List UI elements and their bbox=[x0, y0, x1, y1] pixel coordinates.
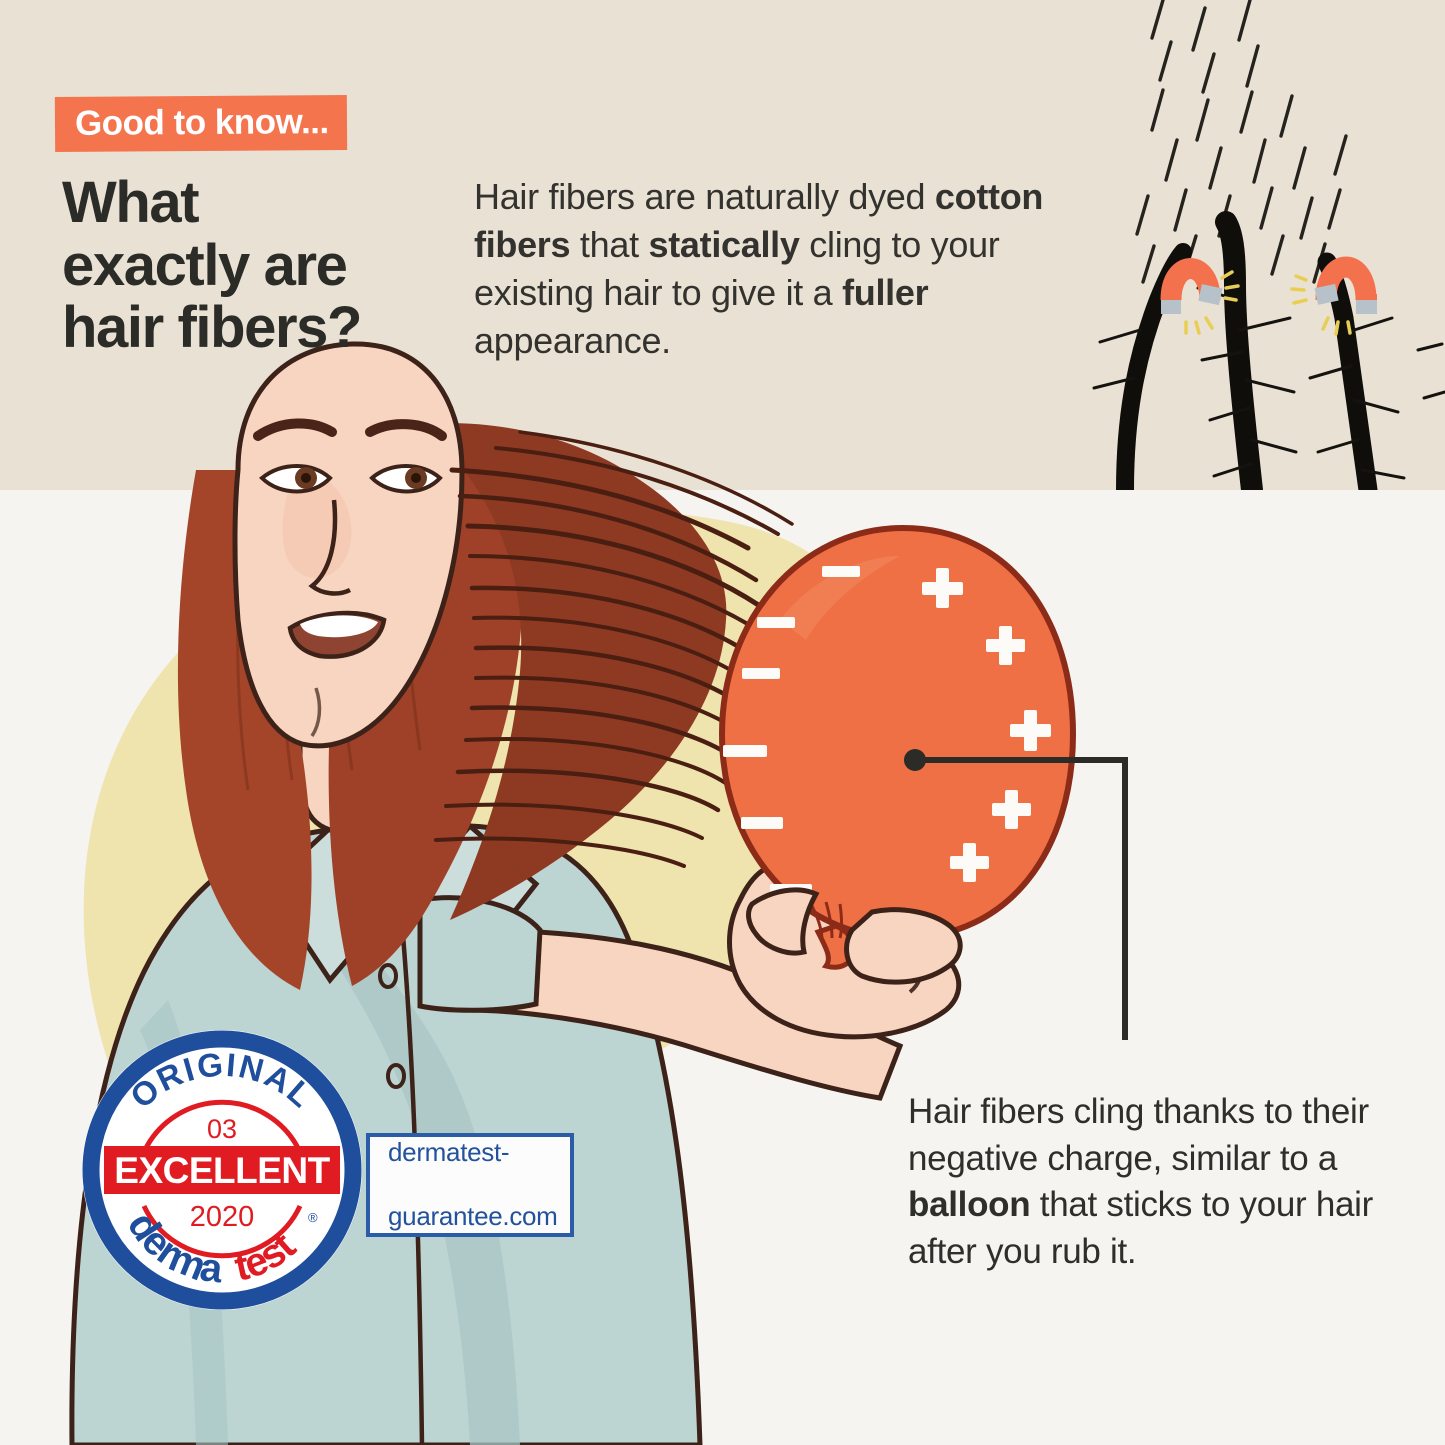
hair-strand-group bbox=[1094, 0, 1445, 490]
headline-line-3: hair fibers? bbox=[62, 297, 482, 360]
seal-grade: EXCELLENT bbox=[114, 1150, 330, 1191]
seal-year: 2020 bbox=[190, 1201, 255, 1233]
dermatest-seal: ORIGINAL derma test ® 03 EXCELLENT 2020 bbox=[78, 1026, 366, 1314]
url-line-2: guarantee.com bbox=[388, 1201, 558, 1233]
dermatest-url-box[interactable]: dermatest- guarantee.com bbox=[366, 1133, 574, 1237]
eyebrow-badge: Good to know... bbox=[55, 95, 347, 152]
seal-registered-icon: ® bbox=[308, 1210, 318, 1225]
page-title: What exactly are hair fibers? bbox=[62, 172, 482, 360]
headline-line-1: What bbox=[62, 172, 482, 235]
infographic-canvas: Good to know... What exactly are hair fi… bbox=[0, 0, 1445, 1445]
headline-line-2: exactly are bbox=[62, 235, 482, 298]
url-line-1: dermatest- bbox=[388, 1137, 558, 1169]
balloon-callout-text: Hair fibers cling thanks to their negati… bbox=[908, 1089, 1378, 1275]
horseshoe-magnet-right bbox=[1292, 267, 1377, 334]
seal-number: 03 bbox=[207, 1114, 237, 1144]
intro-paragraph: Hair fibers are naturally dyed cotton fi… bbox=[474, 173, 1104, 365]
